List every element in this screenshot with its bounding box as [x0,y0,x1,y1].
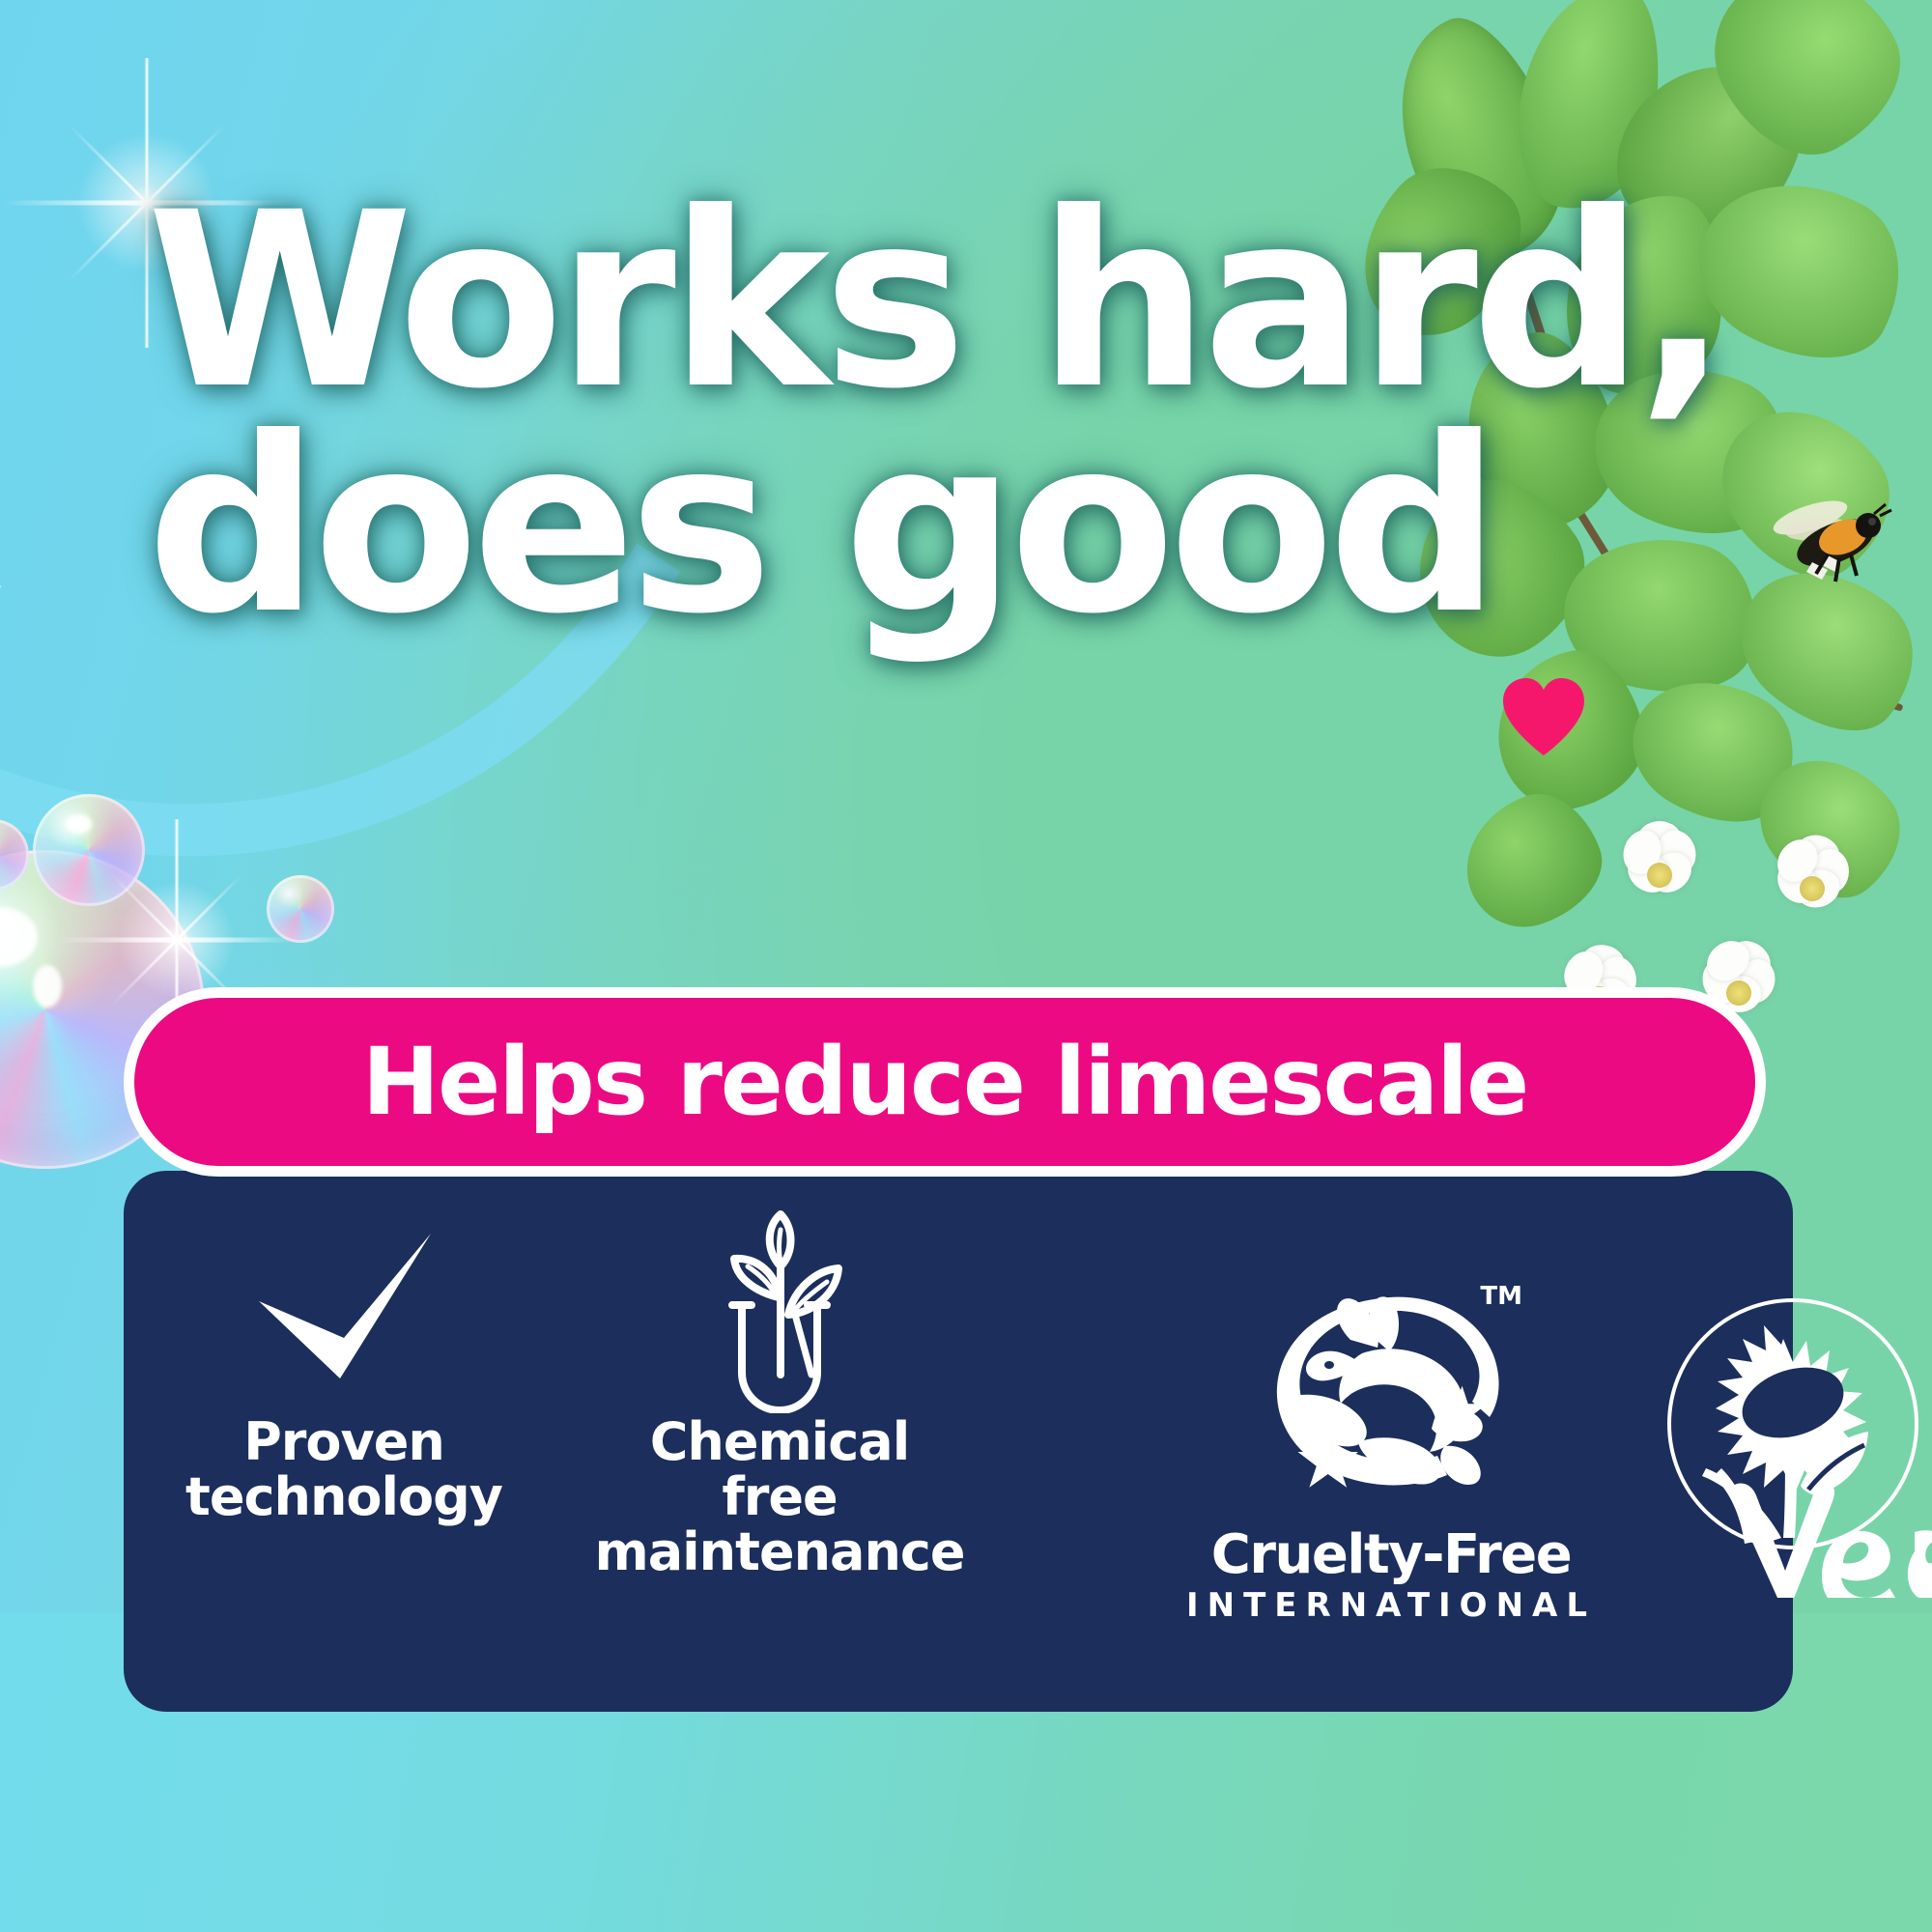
headline-line-2: does good [147,414,1712,639]
cruelty-free-wordmark: Cruelty-Free [1211,1528,1572,1582]
heart-icon [1499,676,1588,757]
vegan-sunflower-icon [1638,1279,1932,1603]
feature-label-line-1: Proven [243,1411,444,1472]
checkmark-icon [247,1215,440,1408]
certification-logos: TM Cruelty-Free INTERNATIONAL [1186,1215,1932,1683]
soap-bubble-right [267,875,334,943]
feature-label-line-3: maintenance [594,1521,964,1582]
feature-label-line-1: Chemical [650,1411,909,1472]
honey-bee-icon [1768,498,1903,600]
feature-label-line-2: free [722,1466,837,1527]
cruelty-free-international-label: INTERNATIONAL [1186,1586,1596,1626]
headline: Works hard, does good [147,189,1712,639]
promo-banner: Works hard, does good Helps reduce limes… [0,0,1932,1932]
leaping-bunny-icon: TM [1265,1280,1517,1526]
cert-cruelty-free-international: TM Cruelty-Free INTERNATIONAL [1186,1280,1596,1626]
headline-line-1: Works hard, [147,189,1712,414]
feature-chemical-free-maintenance: Chemical free maintenance [562,1215,997,1683]
plant-in-u-vessel-icon [688,1215,871,1408]
feature-label-line-2: technology [185,1466,502,1527]
trademark-symbol: TM [1480,1282,1522,1311]
limescale-banner: Helps reduce limescale [124,987,1766,1177]
features-panel: Proven technology [124,1171,1793,1712]
feature-proven-technology: Proven technology [151,1215,537,1683]
cert-vegan-society [1638,1279,1932,1603]
limescale-banner-text: Helps reduce limescale [362,1028,1527,1136]
soap-bubble-medium [33,794,145,906]
